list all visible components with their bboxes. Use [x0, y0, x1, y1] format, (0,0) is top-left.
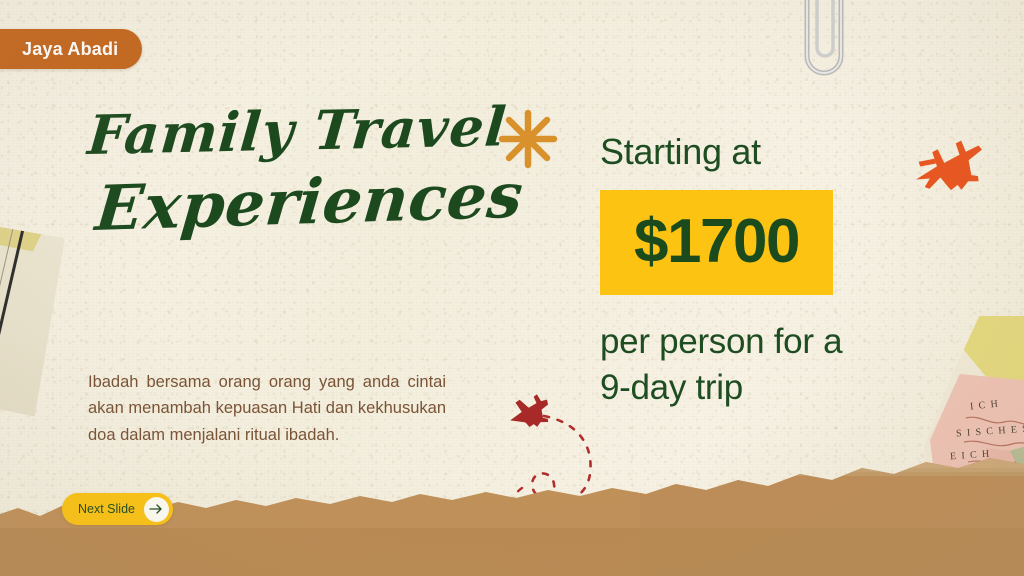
body-paragraph: Ibadah bersama orang orang yang anda cin…	[88, 369, 446, 449]
presentation-slide: I C H S I S C H E S E I C H J A P Jaya A…	[0, 0, 1024, 576]
price-suffix-label: per person for a 9-day trip	[600, 319, 945, 413]
headline-line-2: Experiences	[93, 164, 512, 240]
next-slide-button[interactable]: Next Slide	[62, 493, 173, 525]
price-suffix-line-1: per person for a	[600, 322, 842, 361]
headline-line-1: Family Travel	[86, 99, 511, 163]
brand-name: Jaya Abadi	[22, 39, 118, 60]
brand-badge[interactable]: Jaya Abadi	[0, 29, 142, 69]
arrow-right-icon	[144, 497, 169, 522]
price-prefix-label: Starting at	[600, 132, 945, 172]
price-amount: $1700	[634, 211, 799, 273]
sparkle-star-icon	[497, 108, 559, 170]
price-highlight-box: $1700	[600, 190, 833, 295]
page-title: Family Travel Experiences	[88, 108, 508, 240]
next-slide-label: Next Slide	[78, 502, 135, 516]
price-block: Starting at $1700 per person for a 9-day…	[600, 132, 945, 412]
paperclip-icon	[795, 0, 853, 96]
price-suffix-line-2: 9-day trip	[600, 365, 945, 412]
arrow-right-glyph	[149, 503, 163, 515]
map-border-line-thick	[0, 224, 26, 418]
